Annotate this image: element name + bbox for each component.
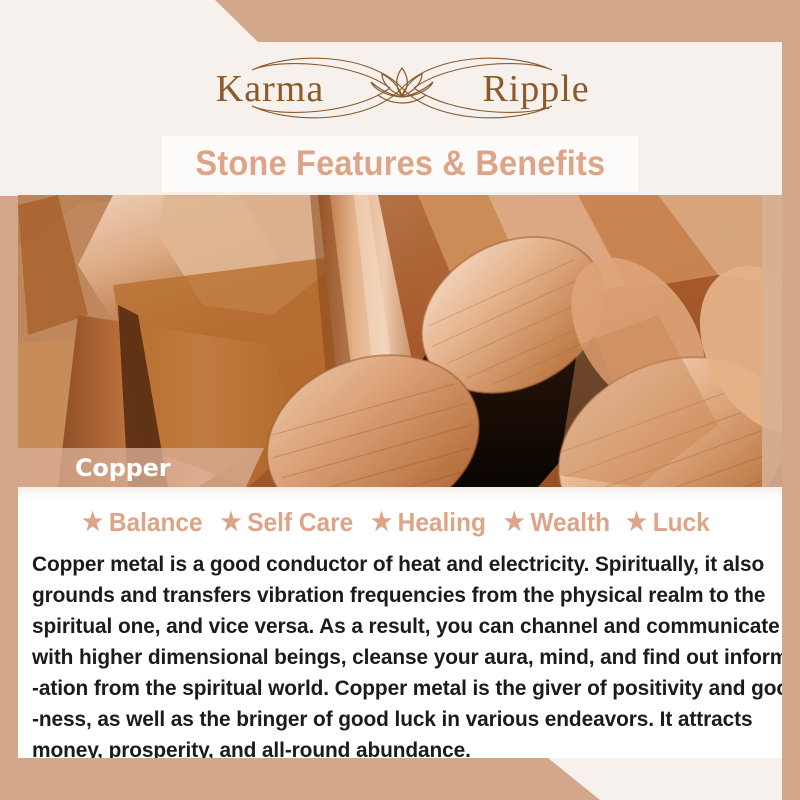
feature-list: ★ Balance ★ Self Care ★ Healing ★ Wealth… [18, 507, 782, 538]
stone-name-label: Copper [18, 448, 264, 487]
brand-logo-svg: Karma Ripple [140, 44, 660, 132]
photo-svg [18, 195, 782, 487]
feature-label: Balance [109, 507, 212, 538]
content-top-fade [18, 487, 782, 499]
frame-left-top-mask [0, 0, 18, 196]
feature-item: ★ Balance [82, 507, 212, 538]
feature-item: ★ Luck [626, 507, 719, 538]
feature-item: ★ Wealth [503, 507, 619, 538]
frame-right-band [782, 0, 800, 800]
description-line: spiritual one, and vice versa. As a resu… [32, 611, 750, 642]
description-line: grounds and transfers vibration frequenc… [32, 580, 750, 611]
star-icon: ★ [82, 510, 103, 535]
feature-label: Wealth [530, 507, 619, 538]
feature-label: Luck [653, 507, 719, 538]
frame-top-band [0, 0, 800, 42]
stone-name-text: Copper [18, 454, 170, 482]
section-title-banner: Stone Features & Benefits [162, 136, 638, 192]
content-panel: ★ Balance ★ Self Care ★ Healing ★ Wealth… [18, 487, 782, 758]
lotus-icon [371, 68, 433, 103]
description-line: -ness, as well as the bringer of good lu… [32, 704, 750, 735]
star-icon: ★ [503, 510, 524, 535]
description-line: -ation from the spiritual world. Copper … [32, 673, 750, 704]
star-icon: ★ [371, 510, 392, 535]
description-line: with higher dimensional beings, cleanse … [32, 642, 750, 673]
brand-name-left: Karma [216, 68, 324, 110]
feature-label: Healing [398, 507, 496, 538]
star-icon: ★ [221, 510, 242, 535]
feature-item: ★ Self Care [221, 507, 363, 538]
feature-item: ★ Healing [371, 507, 495, 538]
product-infographic: Karma Ripple Stone Features & Benefits [0, 0, 800, 800]
description-text: Copper metal is a good conductor of heat… [32, 549, 772, 766]
page-title: Stone Features & Benefits [195, 144, 605, 184]
brand-name-right: Ripple [482, 68, 589, 110]
description-line: Copper metal is a good conductor of heat… [32, 549, 750, 580]
feature-label: Self Care [247, 507, 362, 538]
brand-logo: Karma Ripple [18, 44, 782, 132]
star-icon: ★ [626, 510, 647, 535]
brand-header: Karma Ripple [18, 42, 782, 132]
copper-rods-photo [18, 195, 782, 487]
